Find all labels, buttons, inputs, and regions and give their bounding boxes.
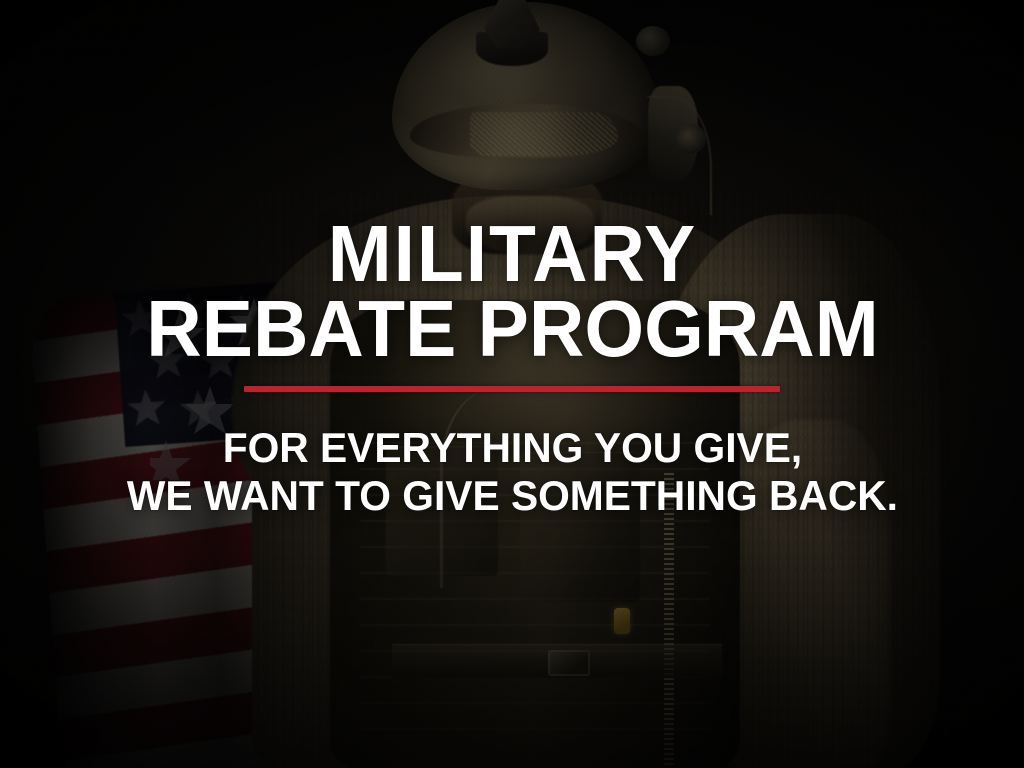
- subheadline: FOR EVERYTHING YOU GIVE, WE WANT TO GIVE…: [126, 424, 897, 520]
- subheadline-line-1: FOR EVERYTHING YOU GIVE,: [126, 424, 897, 472]
- red-divider-rule: [244, 386, 780, 392]
- text-overlay: MILITARY REBATE PROGRAM FOR EVERYTHING Y…: [0, 0, 1024, 768]
- headline-block: MILITARY REBATE PROGRAM: [131, 216, 894, 366]
- subheadline-line-2: WE WANT TO GIVE SOMETHING BACK.: [126, 472, 897, 520]
- page-title: MILITARY REBATE PROGRAM: [146, 216, 878, 366]
- headline-line-2: REBATE PROGRAM: [146, 291, 878, 366]
- headline-line-1: MILITARY: [146, 216, 878, 291]
- slide-canvas: MILITARY REBATE PROGRAM FOR EVERYTHING Y…: [0, 0, 1024, 768]
